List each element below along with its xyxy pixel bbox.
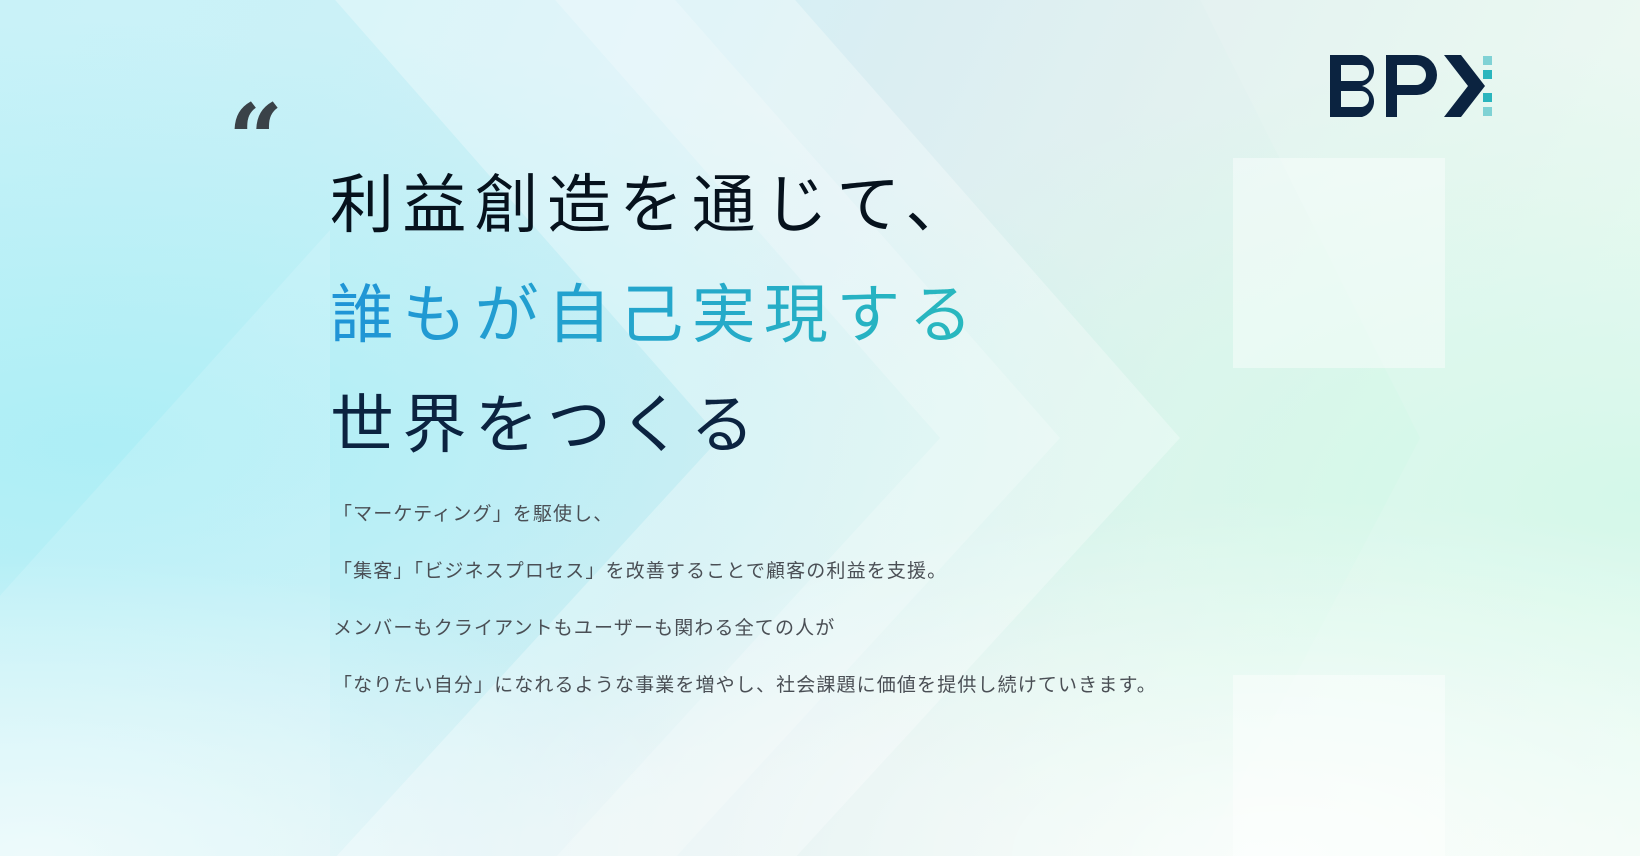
hero-description: 「マーケティング」を駆使し、 「集客」「ビジネスプロセス」を改善することで顧客の…: [333, 505, 1393, 695]
quote-mark-icon: “: [228, 92, 285, 188]
headline-line-1: 利益創造を通じて、: [330, 150, 1330, 260]
description-line-2: 「集客」「ビジネスプロセス」を改善することで顧客の利益を支援。: [333, 562, 1393, 581]
page-title: 利益創造を通じて、 誰もが自己実現する 世界をつくる: [330, 150, 1330, 480]
description-line-1: 「マーケティング」を駆使し、: [333, 505, 1393, 524]
headline-line-3: 世界をつくる: [330, 370, 1330, 480]
hero-banner: “ 利益創造を通じて、 誰もが自己実現する 世界をつくる 「マーケティング」を駆…: [0, 0, 1640, 856]
headline-line-2: 誰もが自己実現する: [330, 260, 1330, 370]
description-line-3: メンバーもクライアントもユーザーも関わる全ての人が: [333, 619, 1393, 638]
description-line-4: 「なりたい自分」になれるような事業を増やし、社会課題に価値を提供し続けていきます…: [333, 676, 1393, 695]
hero-content: “ 利益創造を通じて、 誰もが自己実現する 世界をつくる 「マーケティング」を駆…: [0, 0, 1640, 856]
